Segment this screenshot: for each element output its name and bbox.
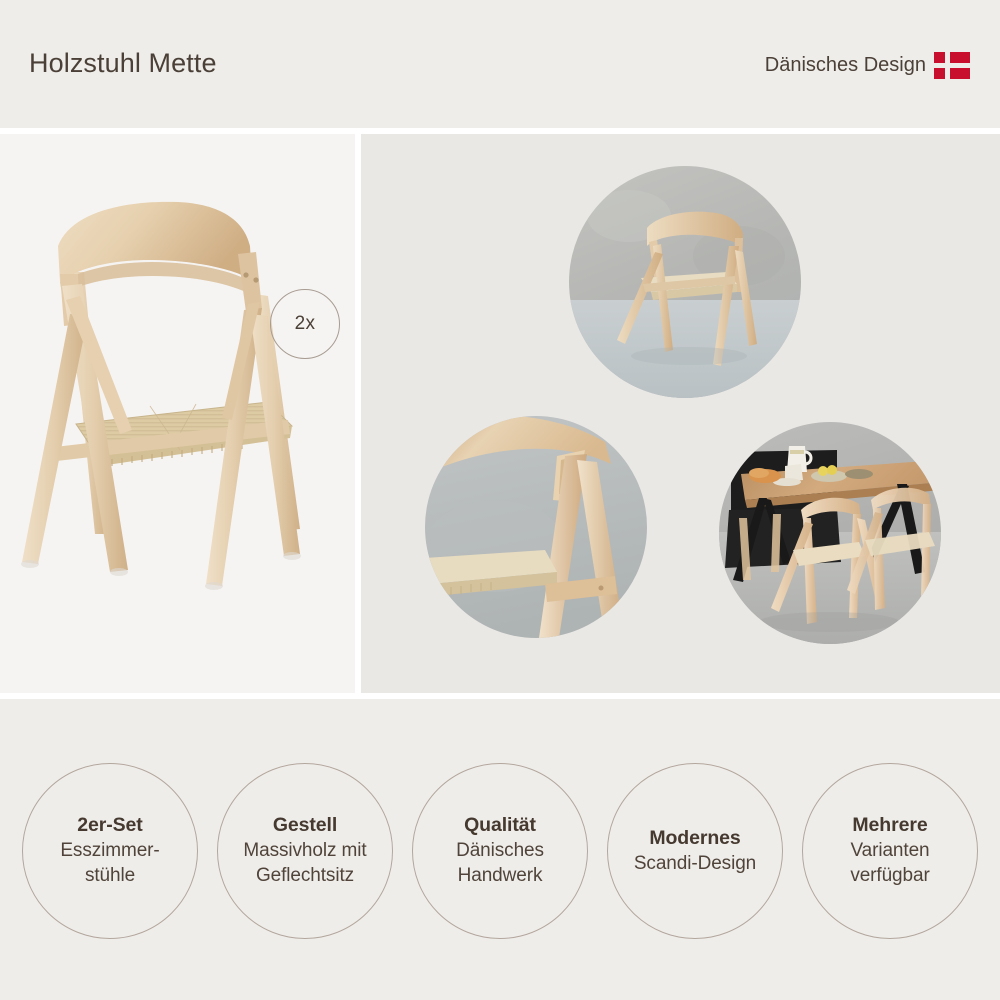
feature-line: Geflechtsitz bbox=[256, 863, 354, 888]
feature-badge-2er-set: 2er-Set Esszimmer- stühle bbox=[22, 763, 198, 939]
flag-cross-horizontal bbox=[934, 63, 970, 68]
feature-badge-modernes: Modernes Scandi-Design bbox=[607, 763, 783, 939]
feature-title: 2er-Set bbox=[77, 813, 142, 838]
photo-tile-room[interactable] bbox=[569, 166, 801, 398]
detail-photo-illustration bbox=[425, 416, 647, 638]
feature-line: Esszimmer- bbox=[60, 838, 159, 863]
feature-title: Qualität bbox=[464, 813, 536, 838]
quantity-badge: 2x bbox=[270, 289, 340, 359]
gallery-section: 2x bbox=[0, 134, 1000, 693]
feature-line: Dänisches bbox=[456, 838, 544, 863]
feature-title: Modernes bbox=[649, 826, 740, 851]
photo-tile-dining[interactable] bbox=[719, 422, 941, 644]
feature-line: Scandi-Design bbox=[634, 851, 756, 876]
feature-line: verfügbar bbox=[850, 863, 929, 888]
origin-badge: Dänisches Design bbox=[765, 52, 970, 79]
feature-line: Massivholz mit bbox=[243, 838, 366, 863]
page-title: Holzstuhl Mette bbox=[29, 48, 217, 79]
photo-tile-detail[interactable] bbox=[425, 416, 647, 638]
quantity-badge-label: 2x bbox=[295, 313, 316, 335]
feature-badge-gestell: Gestell Massivholz mit Geflechtsitz bbox=[217, 763, 393, 939]
header-bar: Holzstuhl Mette Dänisches Design bbox=[0, 0, 1000, 128]
feature-title: Mehrere bbox=[852, 813, 927, 838]
dining-photo-illustration bbox=[719, 422, 941, 644]
feature-line: stühle bbox=[85, 863, 135, 888]
hero-chair-illustration bbox=[0, 134, 355, 693]
feature-badge-qualitaet: Qualität Dänisches Handwerk bbox=[412, 763, 588, 939]
room-photo-illustration bbox=[569, 166, 801, 398]
feature-line: Handwerk bbox=[458, 863, 543, 888]
feature-line: Varianten bbox=[850, 838, 929, 863]
danish-flag-icon bbox=[934, 52, 970, 79]
product-showcase: Holzstuhl Mette Dänisches Design bbox=[0, 0, 1000, 1000]
detail-image-panel bbox=[361, 134, 1000, 693]
origin-label: Dänisches Design bbox=[765, 54, 926, 77]
feature-title: Gestell bbox=[273, 813, 337, 838]
feature-badge-mehrere: Mehrere Varianten verfügbar bbox=[802, 763, 978, 939]
hero-image-panel[interactable]: 2x bbox=[0, 134, 355, 693]
